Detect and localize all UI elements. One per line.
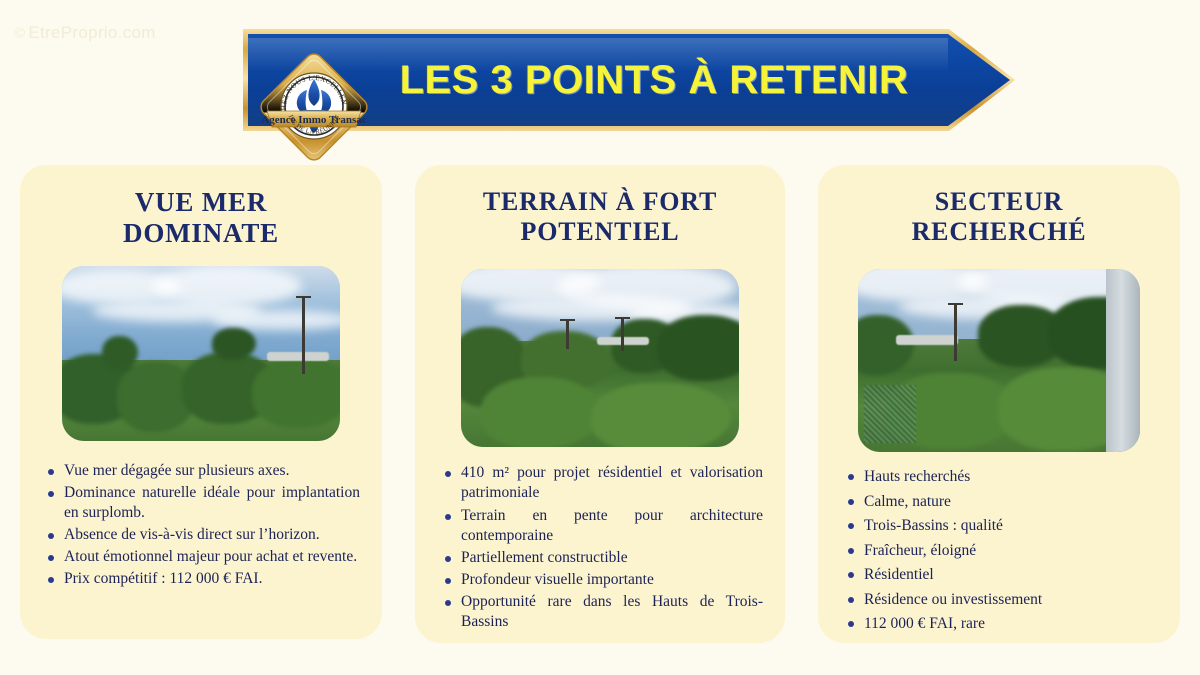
photo-utility-pole (302, 296, 305, 374)
photo-utility-pole (566, 319, 569, 349)
photo-bush (591, 383, 731, 447)
card-title: TERRAIN À FORT POTENTIEL (433, 187, 767, 247)
list-item: Trois-Bassins : qualité (864, 515, 1158, 537)
list-item: Profondeur visuelle importante (461, 570, 763, 590)
list-item: Vue mer dégagée sur plusieurs axes. (64, 461, 360, 481)
photo-bush (657, 315, 739, 381)
card-bullets: Vue mer dégagée sur plusieurs axes. Domi… (38, 461, 364, 590)
agency-logo-badge: CHEZ NOUS L'EXCELLENCE Agence Immo Trans… (255, 48, 373, 166)
card-photo-secteur (858, 269, 1140, 452)
photo-bush (481, 377, 601, 447)
card-photo-vue-mer (62, 266, 340, 441)
list-item: Fraîcheur, éloigné (864, 540, 1158, 562)
list-item: Opportunité rare dans les Hauts de Trois… (461, 592, 763, 632)
photo-palm (102, 336, 138, 370)
card-bullets: Hauts recherchés Calme, nature Trois-Bas… (836, 466, 1162, 635)
header: LES 3 POINTS À RETENIR (0, 26, 1200, 136)
card-title: SECTEUR RECHERCHÉ (836, 187, 1162, 247)
card-vue-mer: VUE MER DOMINATE Vue mer dégagée sur plu… (20, 165, 382, 639)
photo-utility-pole (954, 303, 957, 361)
list-item: 112 000 € FAI, rare (864, 613, 1158, 635)
list-item: Partiellement constructible (461, 548, 763, 568)
list-item: Résidence ou investissement (864, 589, 1158, 611)
list-item: 410 m² pour projet résidentiel et valori… (461, 463, 763, 503)
logo-ribbon-text: Agence Immo Transac (261, 114, 366, 126)
list-item: Résidentiel (864, 564, 1158, 586)
list-item: Atout émotionnel majeur pour achat et re… (64, 547, 360, 567)
photo-tree (212, 328, 256, 360)
list-item: Prix compétitif : 112 000 € FAI. (64, 569, 360, 589)
list-item: Calme, nature (864, 491, 1158, 513)
photo-cloud (212, 310, 340, 330)
card-secteur-recherche: SECTEUR RECHERCHÉ Hauts recherchés Calme… (818, 165, 1180, 643)
photo-utility-pole (621, 317, 624, 351)
photo-roof (267, 352, 329, 361)
card-bullets: 410 m² pour projet résidentiel et valori… (433, 463, 767, 632)
photo-wall (1106, 269, 1140, 452)
card-title: VUE MER DOMINATE (38, 187, 364, 250)
list-item: Terrain en pente pour architecture conte… (461, 506, 763, 546)
card-photo-terrain (461, 269, 739, 447)
card-terrain-potentiel: TERRAIN À FORT POTENTIEL 410 m² pour pro… (415, 165, 785, 643)
list-item: Hauts recherchés (864, 466, 1158, 488)
photo-roof (896, 335, 958, 345)
list-item: Dominance naturelle idéale pour implanta… (64, 483, 360, 523)
points-cards: VUE MER DOMINATE Vue mer dégagée sur plu… (0, 165, 1200, 655)
photo-bush (252, 358, 340, 428)
photo-fence (864, 385, 916, 443)
list-item: Absence de vis-à-vis direct sur l’horizo… (64, 525, 360, 545)
